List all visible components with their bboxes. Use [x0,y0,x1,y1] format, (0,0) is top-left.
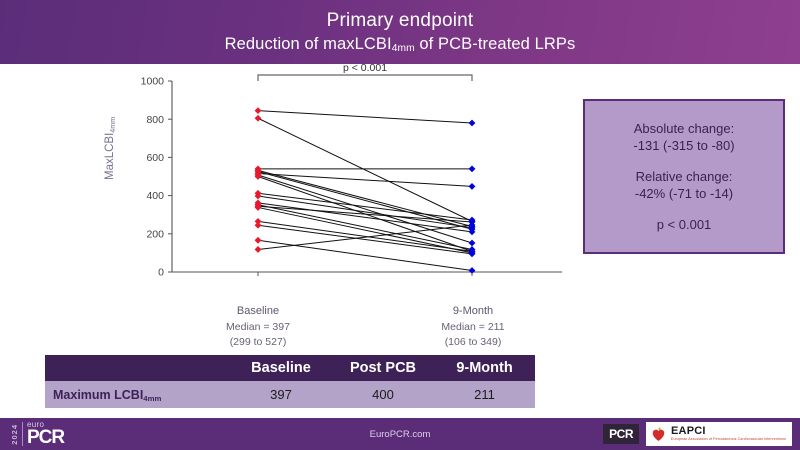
baseline-data-point [255,237,262,244]
y-axis-label-subscript: 4mm [109,117,117,133]
callout-pvalue: p < 0.001 [657,216,712,234]
table-header-blank [45,355,230,381]
footer-logos: PCR EAPCI European Association of Percut… [603,422,792,446]
followup-data-point [469,183,476,190]
table-header-row: Baseline Post PCB 9-Month [45,355,535,381]
eapci-name: EAPCI [671,426,786,437]
paired-connector-line [258,193,472,220]
paired-line-chart: MaxLCBI4mm 02004006008001000p < 0.001 Ba… [110,62,580,352]
results-callout-box: Absolute change: -131 (-315 to -80) Rela… [583,99,785,254]
table-header-ninemonth: 9-Month [434,355,535,381]
baseline-data-point [255,222,262,229]
absolute-change-value: -131 (-315 to -80) [633,137,734,155]
x-category-baseline: Baseline Median = 397 (299 to 527) [183,304,333,350]
x-category-baseline-name: Baseline [183,304,333,320]
followup-data-point [469,240,476,247]
table-cell-post-pcb: 400 [332,381,434,408]
x-category-baseline-iqr: (299 to 527) [183,335,333,350]
significance-bracket [258,75,472,81]
baseline-data-point [255,107,262,114]
chart-pvalue-annotation: p < 0.001 [343,62,387,74]
page-subtitle: Reduction of maxLCBI4mm of PCB-treated L… [225,35,576,55]
page-title: Primary endpoint [327,10,474,32]
table-row-label-text: Maximum LCBI [53,388,143,402]
table-cell-ninemonth: 211 [434,381,535,408]
paired-connector-line [258,221,472,251]
y-tick-label: 1000 [141,76,165,88]
eapci-text: EAPCI European Association of Percutaneo… [671,426,786,442]
followup-data-point [469,165,476,172]
x-category-ninemonth-name: 9-Month [398,304,548,320]
eapci-subtitle: European Association of Percutaneous Car… [671,438,786,442]
table-header-post-pcb: Post PCB [332,355,434,381]
summary-table: Baseline Post PCB 9-Month Maximum LCBI4m… [45,355,535,408]
y-tick-label: 600 [146,152,164,164]
slide-footer: 2024 euro PCR EuroPCR.com PCR EAPCI Euro… [0,418,800,450]
paired-connector-line [258,225,472,254]
pcr-badge: PCR [603,424,639,444]
x-category-ninemonth: 9-Month Median = 211 (106 to 349) [398,304,548,350]
subtitle-subscript: 4mm [392,43,415,54]
paired-connector-line [258,240,472,270]
absolute-change-label: Absolute change: [634,120,734,138]
y-tick-label: 0 [158,267,164,279]
eapci-badge: EAPCI European Association of Percutaneo… [646,422,792,446]
paired-connector-line [258,118,472,221]
x-category-ninemonth-iqr: (106 to 349) [398,335,548,350]
y-tick-label: 200 [146,228,164,240]
relative-change-label: Relative change: [636,168,733,186]
slide-root: Primary endpoint Reduction of maxLCBI4mm… [0,0,800,450]
paired-connector-line [258,170,472,226]
table-cell-baseline: 397 [230,381,332,408]
x-category-baseline-median: Median = 397 [183,320,333,335]
chart-canvas: 02004006008001000p < 0.001 [110,62,580,312]
relative-change-value: -42% (-71 to -14) [635,185,733,203]
table-row: Maximum LCBI4mm 397 400 211 [45,381,535,408]
y-tick-label: 400 [146,190,164,202]
table-header-baseline: Baseline [230,355,332,381]
subtitle-prefix: Reduction of maxLCBI [225,35,392,53]
heart-icon [650,426,667,443]
y-tick-label: 800 [146,114,164,126]
baseline-data-point [255,115,262,122]
table-row-label: Maximum LCBI4mm [45,381,230,408]
y-axis-label-text: MaxLCBI [104,133,116,180]
baseline-data-point [255,246,262,253]
subtitle-suffix: of PCB-treated LRPs [415,35,576,53]
y-axis-label: MaxLCBI4mm [104,117,116,180]
followup-data-point [469,120,476,127]
table-row-label-subscript: 4mm [143,394,161,403]
followup-data-point [469,267,476,274]
slide-header: Primary endpoint Reduction of maxLCBI4mm… [0,0,800,64]
x-category-ninemonth-median: Median = 211 [398,320,548,335]
paired-connector-line [258,111,472,123]
